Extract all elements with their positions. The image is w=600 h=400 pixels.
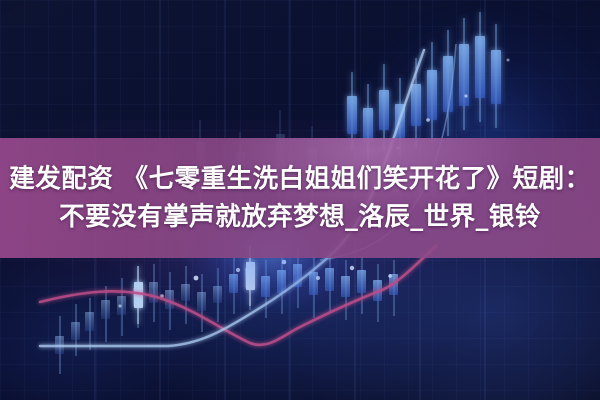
- title-banner-text-block: 建发配资 《七零重生洗白姐姐们笑开花了》短剧： 不要没有掌声就放弃梦想_洛辰_世…: [0, 138, 600, 258]
- banner-title-line-2: 不要没有掌声就放弃梦想_洛辰_世界_银铃: [59, 199, 541, 235]
- thumbnail-canvas: 建发配资 《七零重生洗白姐姐们笑开花了》短剧： 不要没有掌声就放弃梦想_洛辰_世…: [0, 0, 600, 400]
- banner-title-line-1: 建发配资 《七零重生洗白姐姐们笑开花了》短剧：: [9, 161, 590, 197]
